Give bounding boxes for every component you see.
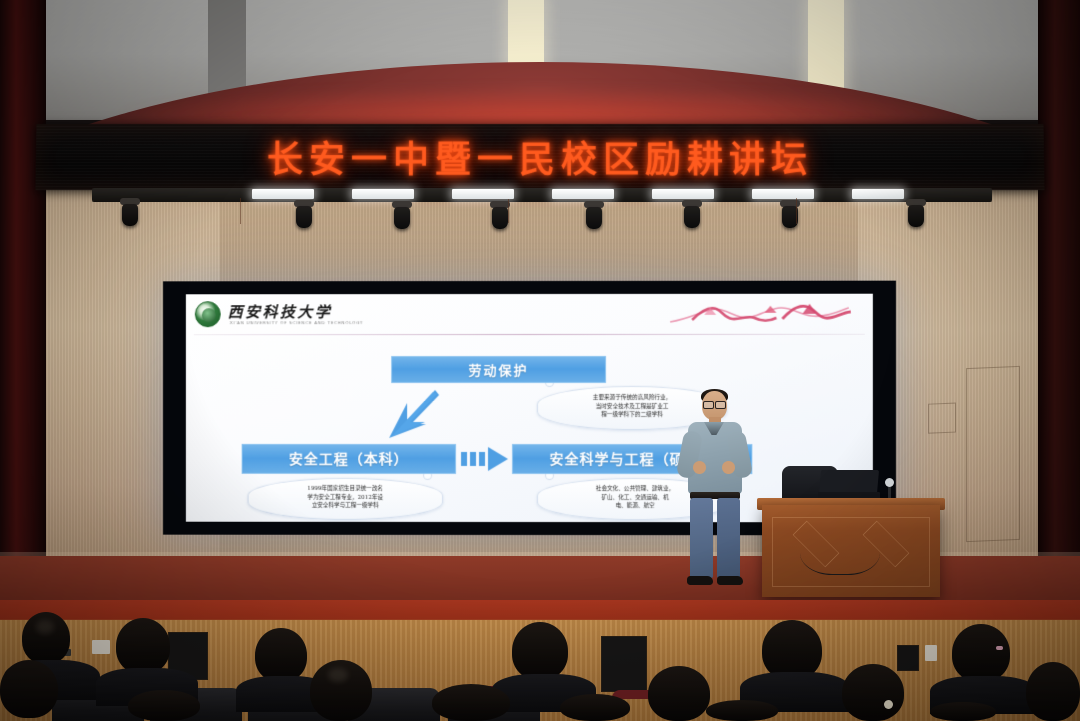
stage-spotlight bbox=[684, 206, 700, 228]
callout-text-bottom-left: 1999年国家招生目录统一改名 学为安全工程专业，2012年设 立安全科学与工程… bbox=[252, 485, 439, 511]
stage-spotlight bbox=[394, 207, 410, 229]
slide-block-top: 劳动保护 bbox=[391, 356, 606, 383]
university-name: 西安科技大学 bbox=[228, 301, 333, 322]
audience-head bbox=[930, 702, 996, 721]
audience-head bbox=[255, 628, 307, 682]
laptop-screen bbox=[819, 470, 879, 494]
audience-head bbox=[842, 664, 904, 721]
stage-spotlight bbox=[586, 207, 602, 229]
wall-plate bbox=[925, 645, 937, 661]
presenter bbox=[672, 391, 758, 590]
slide-block-bottom-left: 安全工程（本科） bbox=[242, 444, 456, 474]
stage-spotlight bbox=[296, 206, 312, 228]
audience-head bbox=[706, 700, 778, 721]
audience-head bbox=[560, 694, 630, 721]
wall-plate bbox=[92, 640, 110, 654]
stage-curtain-left bbox=[0, 0, 46, 640]
presenter-shoe-right bbox=[717, 576, 743, 585]
ink-mountain-graphic-icon bbox=[664, 300, 855, 328]
microphone-icon bbox=[885, 478, 894, 487]
truss-led-strip bbox=[252, 189, 314, 199]
truss-led-strip bbox=[652, 189, 714, 199]
hair-clip bbox=[996, 646, 1003, 650]
wall-speaker bbox=[601, 636, 647, 692]
spotlight-cord bbox=[796, 198, 797, 224]
audience-head bbox=[648, 666, 710, 721]
audience-head-highlight bbox=[328, 668, 348, 682]
audience-head bbox=[128, 690, 200, 721]
presenter-leg-left bbox=[690, 498, 713, 578]
spotlight-cord bbox=[508, 199, 509, 223]
audience-head-highlight bbox=[36, 620, 54, 634]
presentation-slide: 西安科技大学 XI'AN UNIVERSITY OF SCIENCE AND T… bbox=[186, 294, 873, 523]
led-banner: 长安一中暨一民校区励耕讲坛 bbox=[36, 124, 1045, 190]
arrow-right-step-icon bbox=[461, 446, 509, 472]
presenter-hand-right bbox=[722, 461, 735, 474]
presenter-hand-left bbox=[693, 461, 706, 474]
audience-head bbox=[512, 622, 568, 680]
auditorium-photo: 长安一中暨一民校区励耕讲坛 西安科技大学 XI'AN UNIVERSITY OF… bbox=[0, 0, 1080, 721]
spotlight-cord bbox=[240, 198, 241, 224]
university-name-en: XI'AN UNIVERSITY OF SCIENCE AND TECHNOLO… bbox=[230, 320, 364, 325]
presenter-leg-right bbox=[717, 498, 740, 578]
stage-curtain-right bbox=[1038, 0, 1080, 640]
audience-head bbox=[762, 620, 822, 680]
truss-led-strip bbox=[552, 189, 614, 199]
eyeglasses-icon bbox=[703, 401, 726, 407]
slide-header-rule bbox=[194, 334, 865, 335]
truss-led-strip bbox=[352, 189, 414, 199]
audience-head bbox=[116, 618, 170, 674]
audience-head bbox=[0, 660, 58, 718]
floor-cable bbox=[800, 520, 880, 575]
slide-header: 西安科技大学 XI'AN UNIVERSITY OF SCIENCE AND T… bbox=[186, 294, 873, 335]
stage-spotlight bbox=[122, 204, 138, 226]
stage-spotlight bbox=[492, 207, 508, 229]
led-banner-text: 长安一中暨一民校区励耕讲坛 bbox=[36, 131, 1045, 183]
right-wall-panel bbox=[928, 403, 956, 434]
stage-spotlight bbox=[908, 205, 924, 227]
university-seal-inner bbox=[202, 308, 216, 322]
truss-led-strip bbox=[852, 189, 904, 199]
audience-head bbox=[432, 684, 510, 721]
hair-clip bbox=[884, 700, 893, 709]
truss-led-strip bbox=[452, 189, 514, 199]
audience-head bbox=[952, 624, 1010, 682]
arrow-down-left-icon bbox=[381, 386, 443, 444]
presenter-shoe-left bbox=[687, 576, 713, 585]
right-wall-door bbox=[966, 366, 1020, 542]
university-seal-icon bbox=[195, 301, 221, 327]
truss-led-strip bbox=[752, 189, 814, 199]
wall-switch-panel bbox=[897, 645, 919, 671]
audience-head bbox=[1026, 662, 1080, 721]
